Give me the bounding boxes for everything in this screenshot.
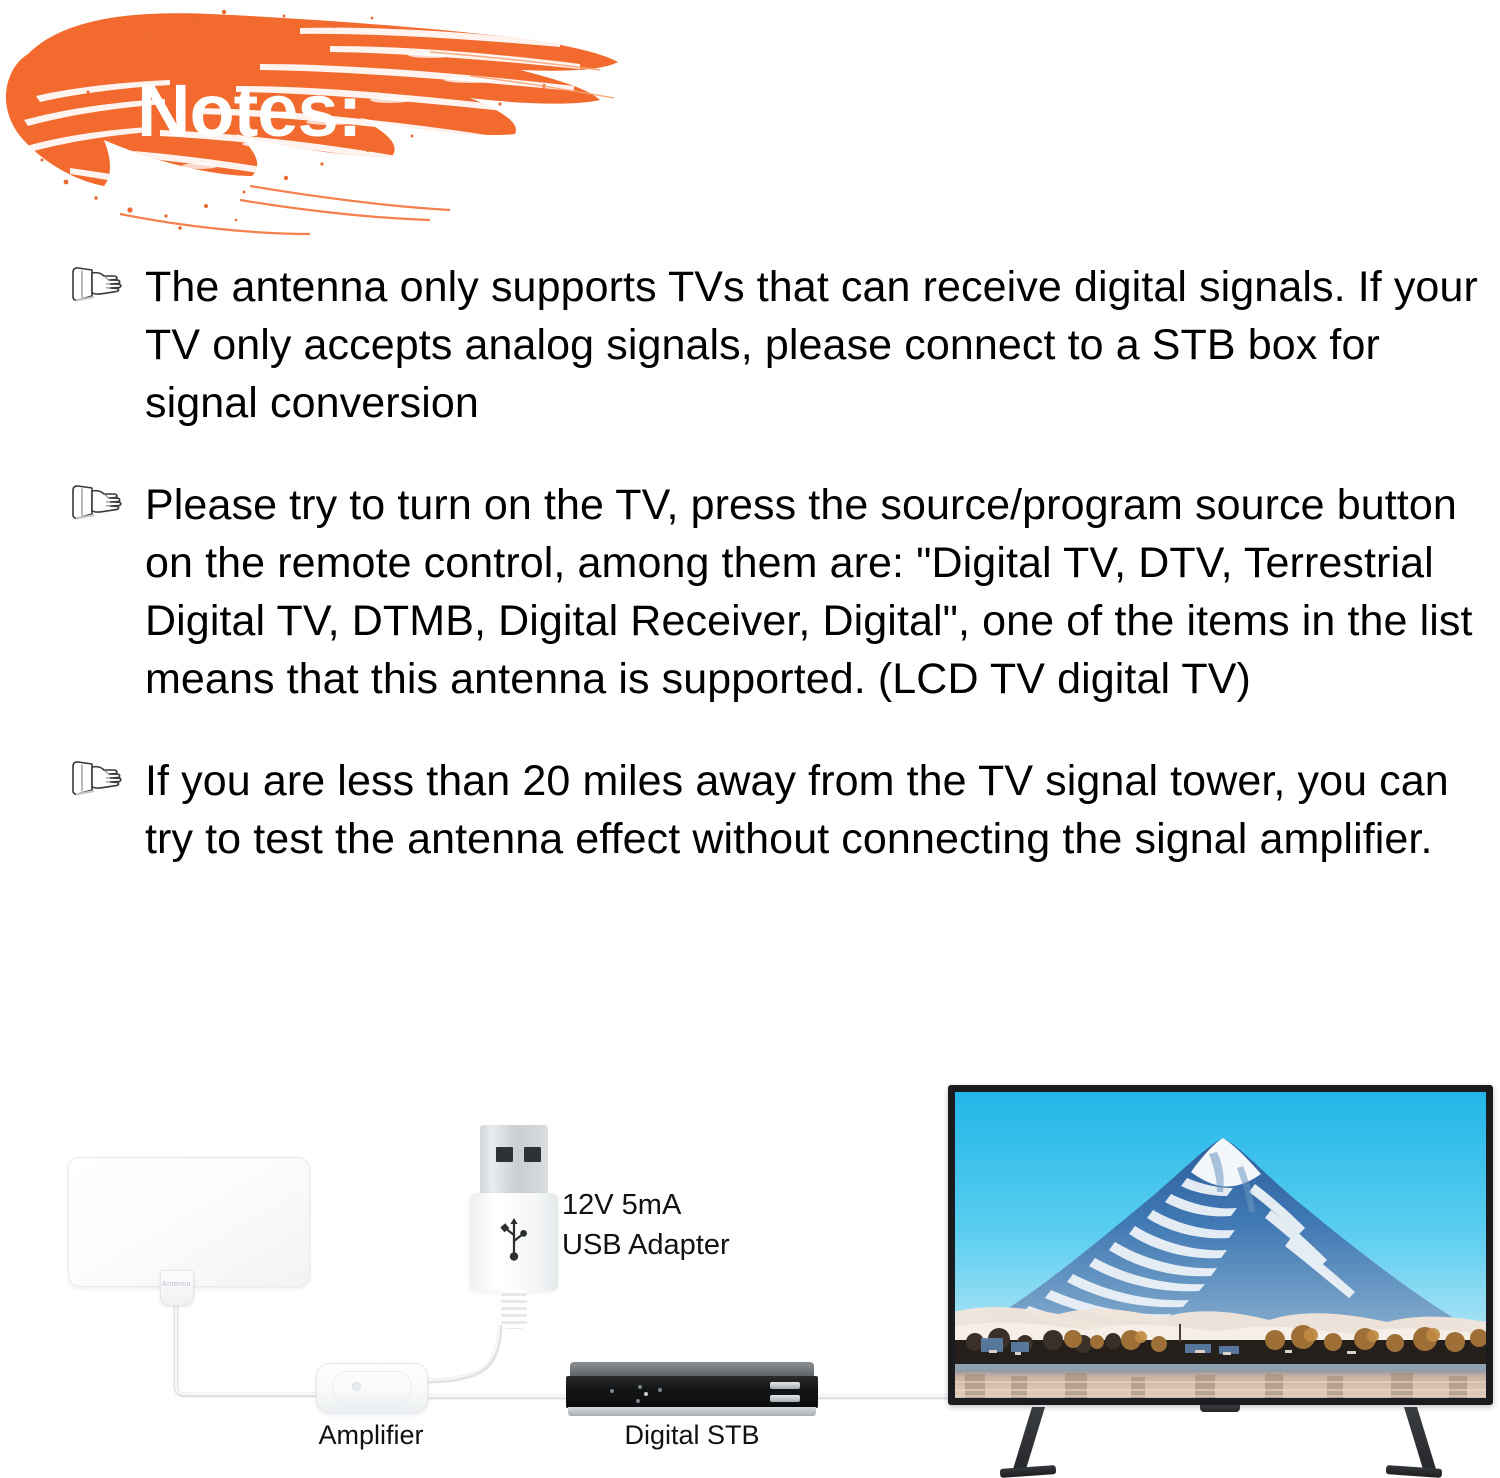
note-text: If you are less than 20 miles away from …: [145, 752, 1480, 868]
notes-list: The antenna only supports TVs that can r…: [0, 258, 1500, 912]
usb-adapter-spec: 12V 5mA: [562, 1185, 802, 1225]
stb-indicator-dot: [636, 1399, 640, 1403]
pointing-hand-icon: [70, 482, 128, 522]
stb-indicator-dot: [610, 1389, 614, 1393]
notes-header-banner: Notes:: [0, 0, 640, 245]
stb-button[interactable]: [770, 1395, 800, 1402]
amplifier-label: Amplifier: [316, 1420, 426, 1451]
amplifier-inner-outline: [332, 1371, 412, 1405]
stb-label: Digital STB: [566, 1420, 818, 1451]
page-title: Notes:: [137, 74, 361, 148]
tv-screen: [955, 1092, 1486, 1398]
usb-contact-block: [496, 1147, 513, 1162]
lake-reflection: [955, 1364, 1486, 1398]
usb-adapter-name: USB Adapter: [562, 1225, 802, 1265]
usb-adapter-label: 12V 5mA USB Adapter: [562, 1185, 802, 1265]
flat-tv-antenna: [68, 1157, 310, 1287]
tv-stand-leg: [1404, 1407, 1437, 1473]
stb-button[interactable]: [770, 1382, 800, 1389]
tv-stand-foot: [1000, 1465, 1056, 1478]
stb-base: [568, 1407, 816, 1416]
list-item: The antenna only supports TVs that can r…: [0, 258, 1500, 432]
stb-indicator-dot: [644, 1392, 648, 1396]
stb-indicator-dot: [638, 1385, 642, 1389]
stb-front-panel: [566, 1376, 818, 1408]
tv-stand-leg: [1012, 1407, 1045, 1473]
flat-screen-tv: [948, 1085, 1493, 1405]
usb-contact-block: [524, 1147, 541, 1162]
list-item: If you are less than 20 miles away from …: [0, 752, 1500, 868]
stb-indicator-dot: [658, 1388, 662, 1392]
tv-brand-logo: [1200, 1405, 1240, 1412]
amplifier-led-indicator: [352, 1382, 361, 1391]
digital-set-top-box: [566, 1362, 818, 1418]
note-text: Please try to turn on the TV, press the …: [145, 476, 1480, 708]
pointing-hand-icon: [70, 758, 128, 798]
connection-diagram: Antenna Amplifier 12V 5mA USB Adapter: [0, 1075, 1500, 1463]
note-text: The antenna only supports TVs that can r…: [145, 258, 1480, 432]
list-item: Please try to turn on the TV, press the …: [0, 476, 1500, 708]
antenna-brand-mark: Antenna: [162, 1281, 190, 1290]
pointing-hand-icon: [70, 264, 128, 304]
usb-trident-icon: [497, 1215, 531, 1263]
usb-strain-relief: [501, 1289, 527, 1329]
mount-fuji-wallpaper: [955, 1092, 1486, 1398]
